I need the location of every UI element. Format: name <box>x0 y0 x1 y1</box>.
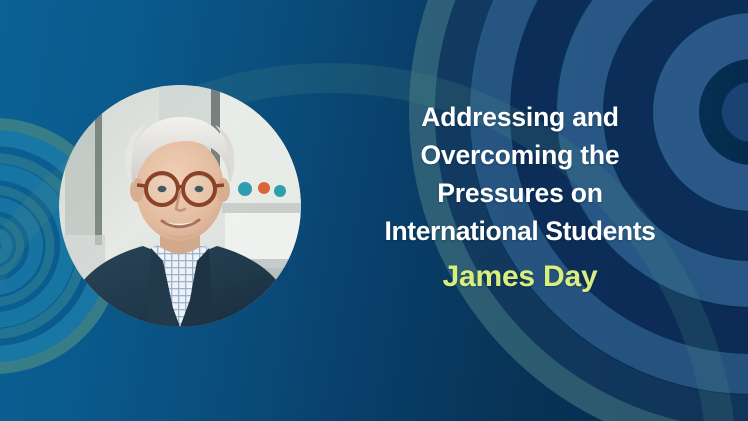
speaker-portrait <box>59 85 301 327</box>
title-line-1: Addressing and <box>320 98 720 136</box>
title-line-4: International Students <box>320 212 720 250</box>
title-line-2: Overcoming the <box>320 136 720 174</box>
speaker-name: James Day <box>320 255 720 299</box>
slide-text-block: Addressing and Overcoming the Pressures … <box>320 98 720 299</box>
title-line-3: Pressures on <box>320 174 720 212</box>
portrait-illustration <box>59 85 301 327</box>
presentation-slide: Addressing and Overcoming the Pressures … <box>0 0 748 421</box>
